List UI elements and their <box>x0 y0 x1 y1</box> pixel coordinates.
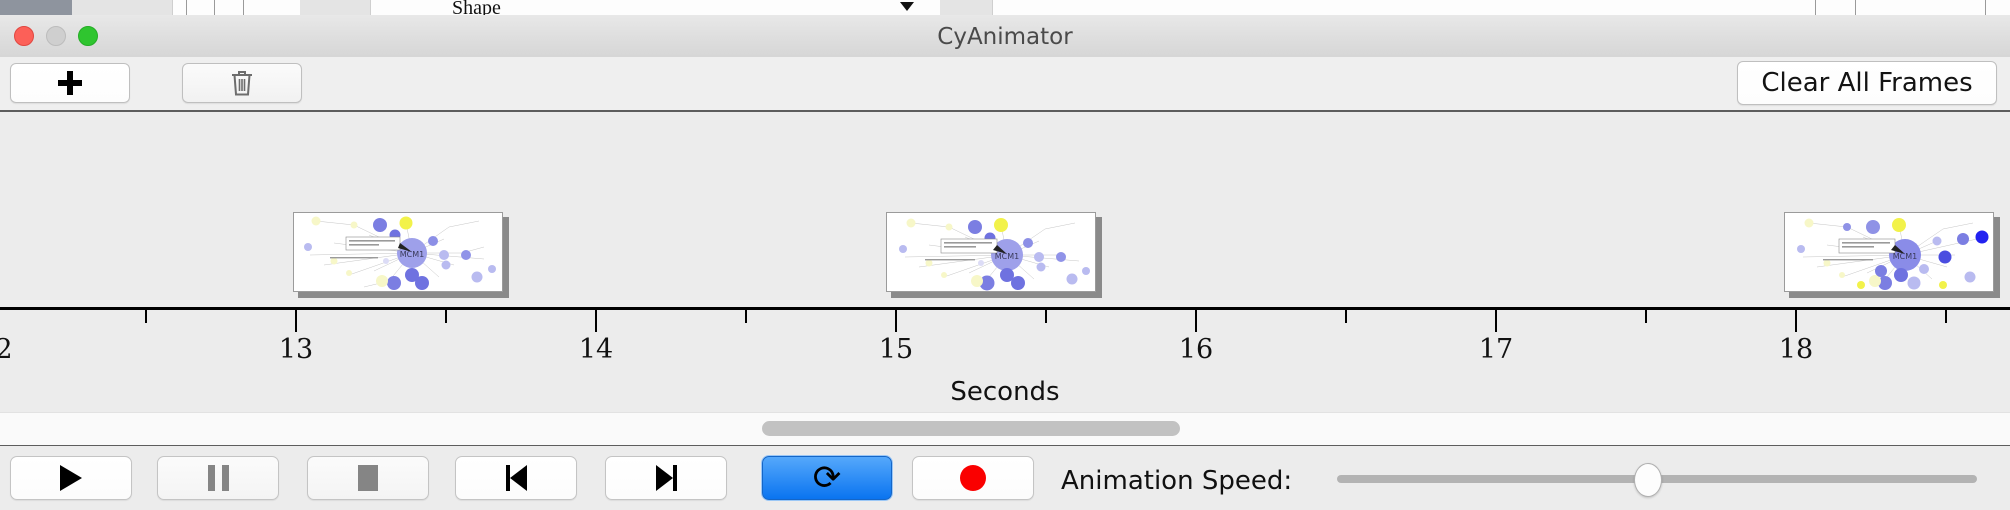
plus-icon <box>58 71 82 95</box>
axis-tick-major <box>1795 310 1797 332</box>
axis-label: 17 <box>1479 334 1513 365</box>
background-window-label: Shape <box>452 0 501 16</box>
bg-block <box>0 0 72 15</box>
axis-tick-major <box>895 310 897 332</box>
axis-label: 16 <box>1179 334 1213 365</box>
network-graph: MCM1 <box>1785 213 1993 291</box>
window-title: CyAnimator <box>0 24 2010 50</box>
axis-tick-major <box>1195 310 1197 332</box>
add-frame-button[interactable] <box>10 63 130 103</box>
slider-thumb[interactable] <box>1634 463 1662 497</box>
axis-label: 14 <box>579 334 613 365</box>
clear-all-frames-button[interactable]: Clear All Frames <box>1737 61 1997 105</box>
loop-button[interactable]: ⟳ <box>762 456 892 500</box>
bg-tick <box>214 0 215 15</box>
play-icon <box>60 465 82 491</box>
pause-button[interactable] <box>157 456 279 500</box>
bg-tick <box>243 0 244 15</box>
timeline-scrollbar[interactable] <box>0 412 2010 447</box>
last-frame-button[interactable] <box>605 456 727 500</box>
loop-icon: ⟳ <box>813 463 842 493</box>
record-icon <box>960 465 986 491</box>
axis-label: 2 <box>0 334 13 365</box>
axis-tick-minor <box>1345 310 1347 323</box>
bg-segment <box>72 0 173 15</box>
frame-thumbnail-3[interactable]: MCM1 <box>1784 212 2000 298</box>
network-graph: MCM1 <box>294 213 502 291</box>
bg-tick <box>1985 0 1986 15</box>
frame-thumbnail-2[interactable]: MCM1 <box>886 212 1102 298</box>
frame-thumbnail-1[interactable]: MCM1 <box>293 212 509 298</box>
axis-tick-major <box>1495 310 1497 332</box>
playback-control-bar: ⟳ Animation Speed: <box>0 446 2010 510</box>
bg-segment <box>940 0 993 15</box>
svg-text:MCM1: MCM1 <box>995 252 1019 261</box>
bg-tick <box>1815 0 1816 15</box>
delete-frame-button[interactable] <box>182 63 302 103</box>
play-button[interactable] <box>10 456 132 500</box>
bg-segment <box>300 0 371 15</box>
scrollbar-thumb[interactable] <box>762 421 1180 436</box>
stop-icon <box>358 465 378 491</box>
record-button[interactable] <box>912 456 1034 500</box>
toolbar: Clear All Frames <box>0 57 2010 112</box>
axis-tick-minor <box>1045 310 1047 323</box>
network-graph: MCM1 <box>887 213 1095 291</box>
thumbnail-image: MCM1 <box>886 212 1096 292</box>
trash-icon <box>230 69 254 97</box>
stop-button[interactable] <box>307 456 429 500</box>
axis-tick-minor <box>745 310 747 323</box>
axis-label: 13 <box>279 334 313 365</box>
cyanimator-window: Shape CyAnimator Clear All Frames <box>0 0 2010 510</box>
axis-label: 15 <box>879 334 913 365</box>
timeline-axis <box>0 307 2010 310</box>
axis-tick-minor <box>445 310 447 323</box>
thumbnail-image: MCM1 <box>293 212 503 292</box>
background-window-strip: Shape <box>0 0 2010 16</box>
title-bar[interactable]: CyAnimator <box>0 15 2010 58</box>
thumbnail-image: MCM1 <box>1784 212 1994 292</box>
axis-tick-minor <box>1945 310 1947 323</box>
axis-tick-major <box>295 310 297 332</box>
pause-icon <box>208 465 229 491</box>
bg-caret-icon <box>900 2 914 11</box>
svg-text:MCM1: MCM1 <box>400 250 424 259</box>
axis-tick-major <box>595 310 597 332</box>
axis-title: Seconds <box>0 377 2010 407</box>
bg-tick <box>1855 0 1856 15</box>
animation-speed-label: Animation Speed: <box>1061 466 1292 496</box>
bg-tick <box>186 0 187 15</box>
skip-to-start-icon <box>506 465 527 491</box>
timeline-panel[interactable]: MCM1 <box>0 112 2010 412</box>
first-frame-button[interactable] <box>455 456 577 500</box>
animation-speed-slider[interactable] <box>1337 475 1977 483</box>
svg-text:MCM1: MCM1 <box>1893 252 1917 261</box>
axis-tick-minor <box>145 310 147 323</box>
axis-label: 18 <box>1779 334 1813 365</box>
skip-to-end-icon <box>656 465 677 491</box>
axis-tick-minor <box>1645 310 1647 323</box>
